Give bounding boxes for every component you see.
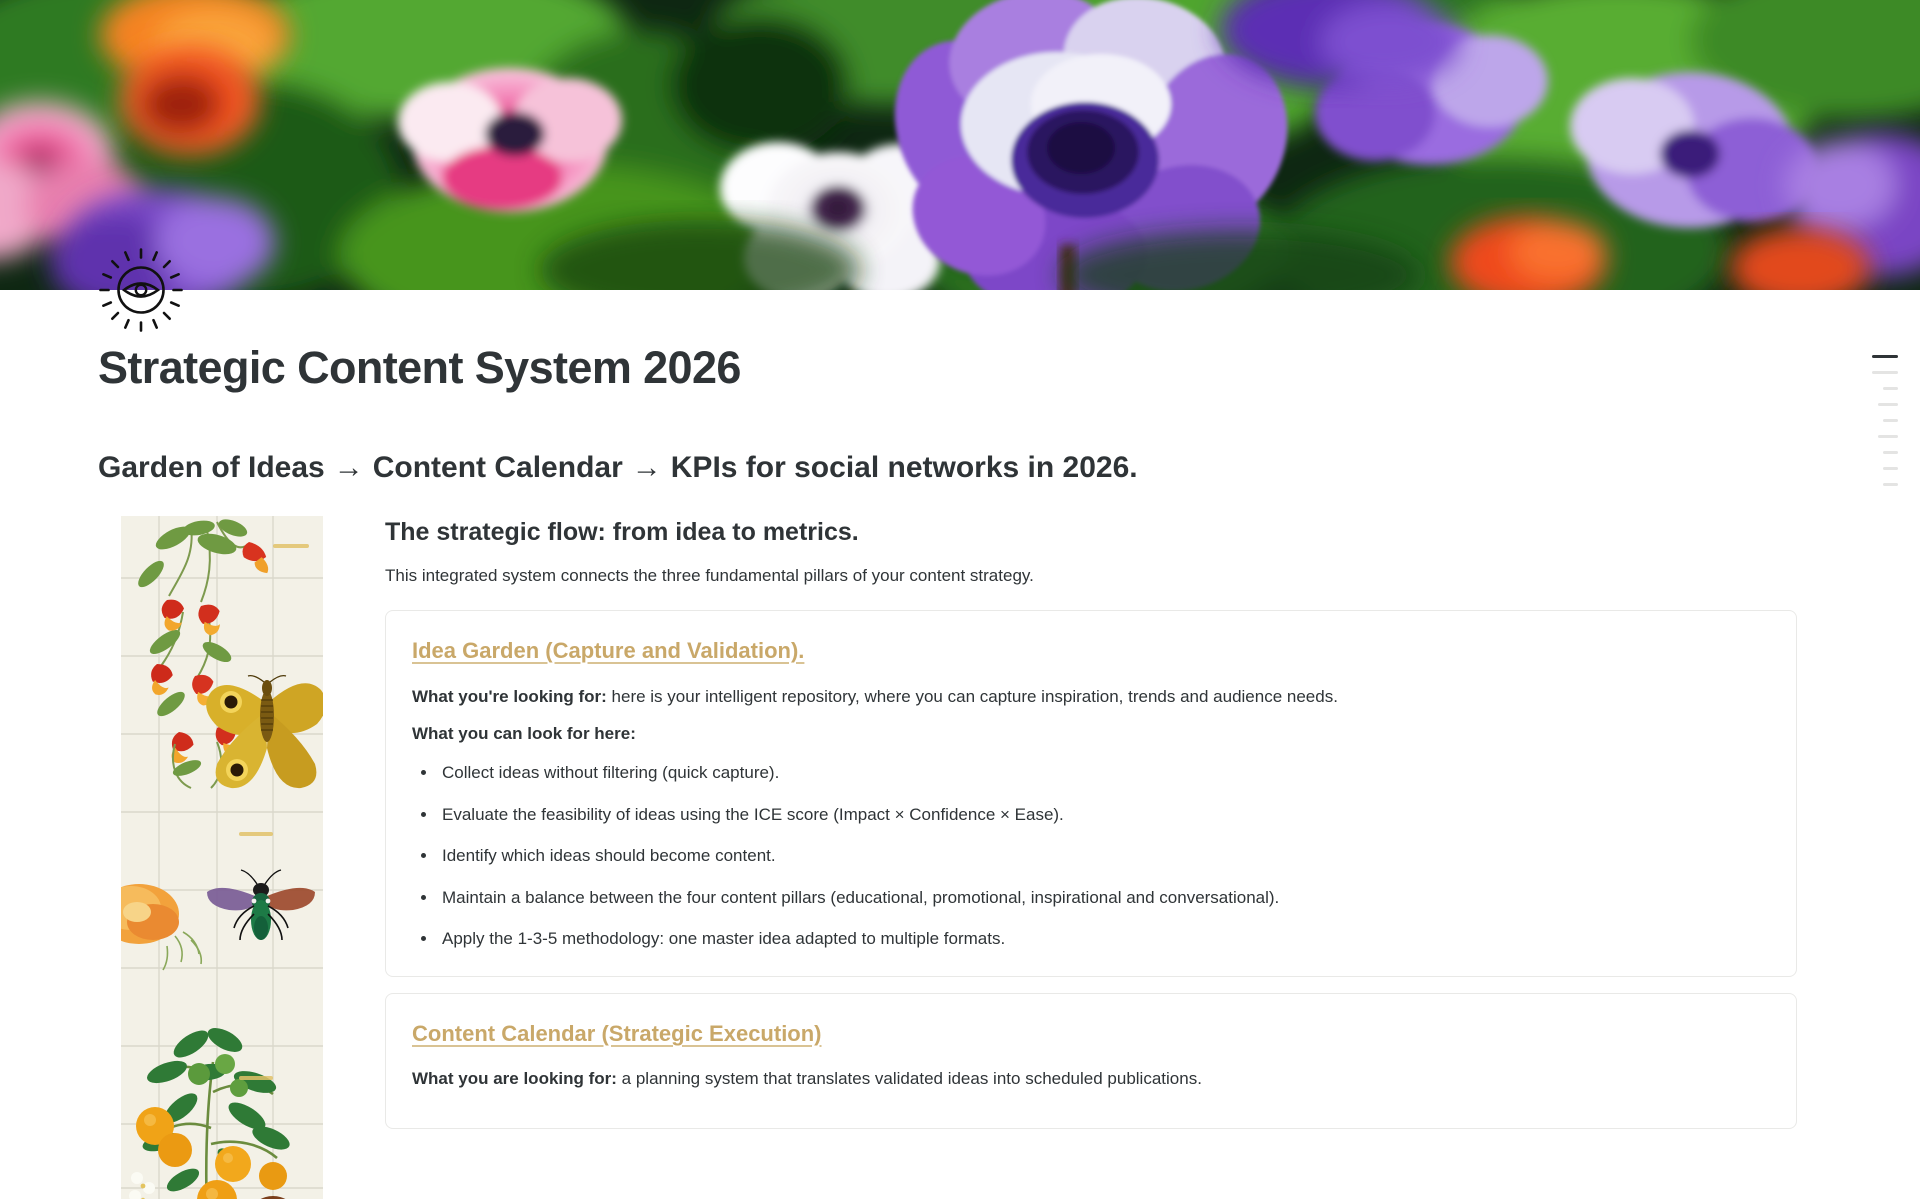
toc-bar[interactable]	[1883, 483, 1898, 486]
sun-eye-icon	[98, 247, 184, 333]
breadcrumb-step-kpis: KPIs for social networks in 2026.	[671, 451, 1138, 484]
card-bullet-list: Collect ideas without filtering (quick c…	[412, 760, 1770, 952]
hero-banner	[0, 0, 1920, 290]
card-link-idea-garden[interactable]: Idea Garden (Capture and Validation).	[412, 637, 804, 666]
list-item: Evaluate the feasibility of ideas using …	[412, 802, 1770, 828]
table-of-contents-indicator[interactable]	[1858, 355, 1898, 486]
list-item: Identify which ideas should become conte…	[412, 843, 1770, 869]
botanical-illustration	[121, 516, 323, 1199]
card-content-calendar: Content Calendar (Strategic Execution) W…	[385, 993, 1797, 1129]
card-looking-for: What you're looking for: here is your in…	[412, 684, 1770, 710]
card-looking-for-text: here is your intelligent repository, whe…	[607, 687, 1338, 706]
list-item: Maintain a balance between the four cont…	[412, 885, 1770, 911]
breadcrumb-arrow-2: →	[623, 451, 671, 484]
toc-bar-active[interactable]	[1872, 355, 1898, 358]
card-list-label: What you can look for here:	[412, 724, 636, 743]
content-column: The strategic flow: from idea to metrics…	[385, 516, 1797, 1145]
list-item: Apply the 1-3-5 methodology: one master …	[412, 926, 1770, 952]
toc-bar[interactable]	[1883, 387, 1898, 390]
list-item: Collect ideas without filtering (quick c…	[412, 760, 1770, 786]
card-looking-for: What you are looking for: a planning sys…	[412, 1066, 1770, 1092]
card-looking-for-label: What you are looking for:	[412, 1069, 617, 1088]
card-looking-for-text: a planning system that translates valida…	[617, 1069, 1202, 1088]
toc-bar[interactable]	[1878, 435, 1898, 438]
card-looking-for-label: What you're looking for:	[412, 687, 607, 706]
section-intro: This integrated system connects the thre…	[385, 563, 1797, 589]
page-title: Strategic Content System 2026	[98, 341, 741, 394]
breadcrumb-step-garden: Garden of Ideas	[98, 451, 325, 484]
toc-bar[interactable]	[1883, 419, 1898, 422]
page-root: Strategic Content System 2026 Garden of …	[0, 0, 1920, 1199]
breadcrumb: Garden of Ideas→Content Calendar→KPIs fo…	[98, 448, 1138, 487]
toc-bar[interactable]	[1872, 371, 1898, 374]
breadcrumb-step-calendar: Content Calendar	[373, 451, 623, 484]
toc-bar[interactable]	[1878, 403, 1898, 406]
card-list-label-wrap: What you can look for here:	[412, 721, 1770, 747]
card-idea-garden: Idea Garden (Capture and Validation). Wh…	[385, 610, 1797, 977]
section-heading: The strategic flow: from idea to metrics…	[385, 516, 1797, 549]
body-area: The strategic flow: from idea to metrics…	[0, 516, 1920, 1199]
breadcrumb-arrow-1: →	[325, 451, 373, 484]
toc-bar[interactable]	[1883, 467, 1898, 470]
card-link-content-calendar[interactable]: Content Calendar (Strategic Execution)	[412, 1020, 822, 1049]
toc-bar[interactable]	[1883, 451, 1898, 454]
